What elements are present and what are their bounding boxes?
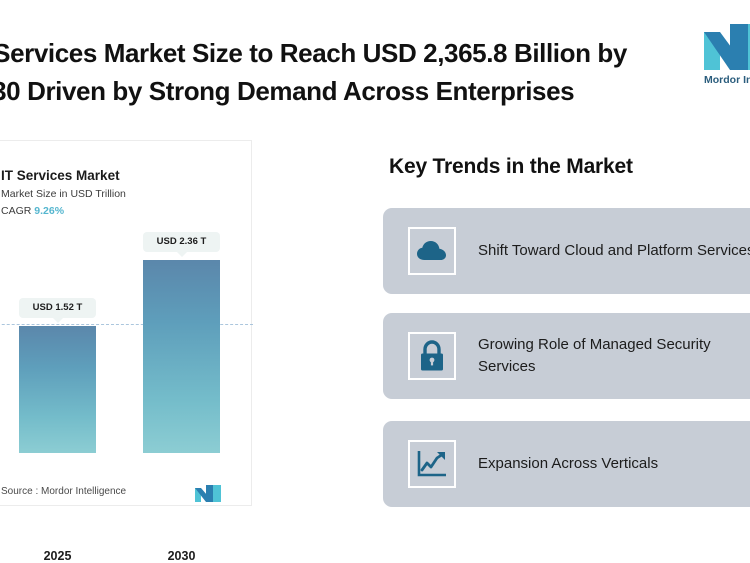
trend-card-label: Growing Role of Managed Security Service… <box>478 334 750 378</box>
lock-icon <box>408 332 456 380</box>
bar-2025 <box>19 326 96 453</box>
bar-chart-plot: USD 1.52 T USD 2.36 T 2025 2030 <box>0 231 253 456</box>
brand-logo: Mordor Intelligence <box>704 24 750 98</box>
trend-card-verticals[interactable]: Expansion Across Verticals <box>383 421 750 507</box>
key-trends-heading: Key Trends in the Market <box>389 155 633 179</box>
bar-value-badge-2025: USD 1.52 T <box>19 298 96 318</box>
page-title: IT Services Market Size to Reach USD 2,3… <box>0 34 664 110</box>
x-axis-label-2030: 2030 <box>143 549 220 563</box>
trend-card-security[interactable]: Growing Role of Managed Security Service… <box>383 313 750 399</box>
chart-trend-up-icon <box>408 440 456 488</box>
chart-cagr: CAGR 9.26% <box>1 205 64 217</box>
chart-subtitle: Market Size in USD Trillion <box>1 188 126 200</box>
bar-value-badge-2030: USD 2.36 T <box>143 232 220 252</box>
chart-card: IT Services Market Market Size in USD Tr… <box>0 140 252 506</box>
trend-card-cloud[interactable]: Shift Toward Cloud and Platform Services <box>383 208 750 294</box>
brand-name: Mordor Intelligence <box>704 74 750 86</box>
cloud-icon <box>408 227 456 275</box>
cagr-label: CAGR <box>1 205 31 217</box>
source-name: Mordor Intelligence <box>41 486 126 497</box>
cagr-value: 9.26% <box>34 205 64 217</box>
trend-card-label: Expansion Across Verticals <box>478 453 658 475</box>
trend-card-label: Shift Toward Cloud and Platform Services <box>478 240 750 262</box>
chart-title: IT Services Market <box>1 168 120 183</box>
x-axis-label-2025: 2025 <box>19 549 96 563</box>
mordor-m-logo-icon <box>704 24 750 70</box>
bar-2030 <box>143 260 220 453</box>
source-logo-icon <box>195 485 221 507</box>
chart-source: Source : Mordor Intelligence <box>1 486 126 497</box>
source-label: Source : <box>1 486 38 497</box>
